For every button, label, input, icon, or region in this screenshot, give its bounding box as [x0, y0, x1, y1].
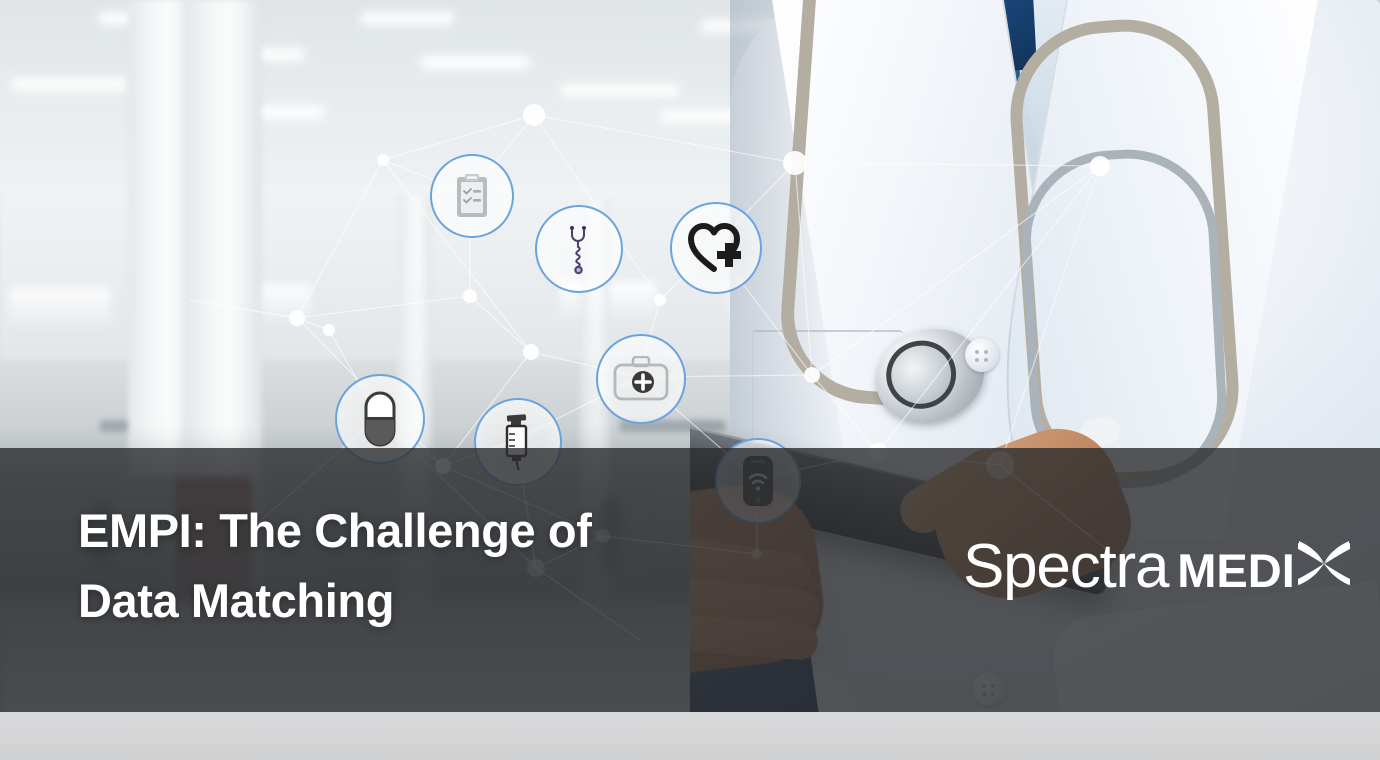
ceiling-light [420, 56, 530, 69]
medical-bag-plus-icon [596, 334, 686, 424]
logo-word-spectra: Spectra [963, 536, 1168, 598]
ceiling-light [560, 84, 680, 97]
title-line-2: Data Matching [78, 566, 698, 636]
bottom-light-strip [0, 712, 1380, 760]
clipboard-checklist-icon [430, 154, 514, 238]
wall-window [10, 288, 110, 324]
title-line-1: EMPI: The Challenge of [78, 496, 698, 566]
page-title: EMPI: The Challenge of Data Matching [78, 496, 698, 636]
logo-word-medi: MEDI [1177, 547, 1295, 594]
ceiling-light [360, 12, 455, 25]
ceiling-light [10, 78, 130, 91]
coat-button [965, 338, 999, 372]
spectramedix-logo: Spectra MEDI [963, 536, 1352, 598]
logo-x-mark [1296, 541, 1352, 592]
stethoscope-icon [535, 205, 623, 293]
banner-root: EMPI: The Challenge of Data Matching Spe… [0, 0, 1380, 760]
heart-plus-icon [670, 202, 762, 294]
